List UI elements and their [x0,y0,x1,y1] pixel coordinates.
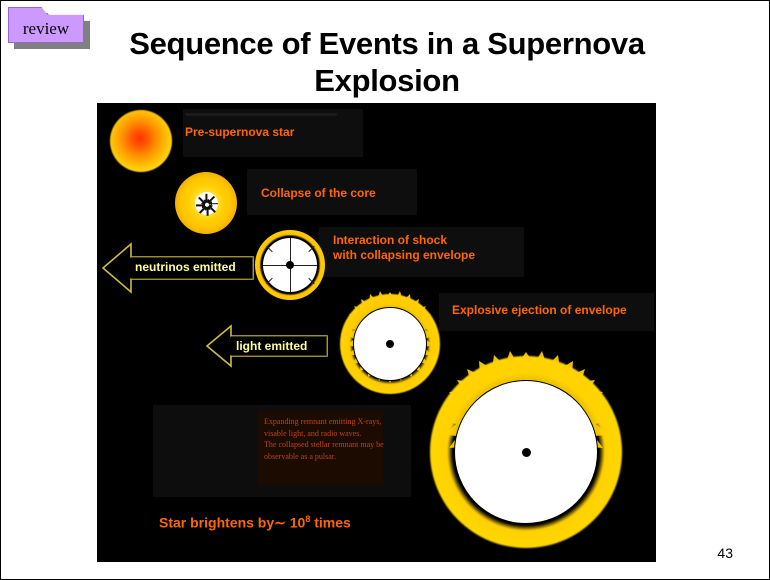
caption-prefix: Star brightens by [159,515,274,531]
collapsing-core [195,192,218,215]
figure-caption: Star brightens by∼ 108 times [159,514,351,532]
supernova-diagram: Pre-supernova star Collapse of the core … [97,103,656,562]
page-number: 43 [717,545,733,561]
ejection-center-dot [386,340,394,348]
review-tab[interactable]: review [8,7,90,49]
arrow-light-emitted: light emitted [205,322,329,370]
arrow-neutrinos-label: neutrinos emitted [135,260,236,274]
slide-canvas: review Sequence of Events in a Supernova… [0,0,770,580]
star-pre-supernova [110,110,172,172]
label-collapse-of-the-core: Collapse of the core [261,186,376,201]
arrow-neutrinos-emitted: neutrinos emitted [101,241,255,295]
review-tab-label: review [8,19,84,39]
page-title: Sequence of Events in a Supernova Explos… [97,25,677,99]
label-explosive-ejection: Explosive ejection of envelope [452,303,627,318]
caption-suffix: times [310,515,350,531]
label-interaction-of-shock: Interaction of shock with collapsing env… [333,233,475,263]
shock-center-dot [286,261,294,269]
remnant-center-dot [522,448,531,457]
caption-tilde: ∼ [274,515,286,531]
arrow-light-label: light emitted [236,339,307,353]
remnant-note-text: Expanding remnant emitting X-rays, visab… [264,416,386,462]
label-pre-supernova-star: Pre-supernova star [185,125,294,140]
plate-top-rule [185,113,337,116]
caption-base: 10 [286,515,305,531]
